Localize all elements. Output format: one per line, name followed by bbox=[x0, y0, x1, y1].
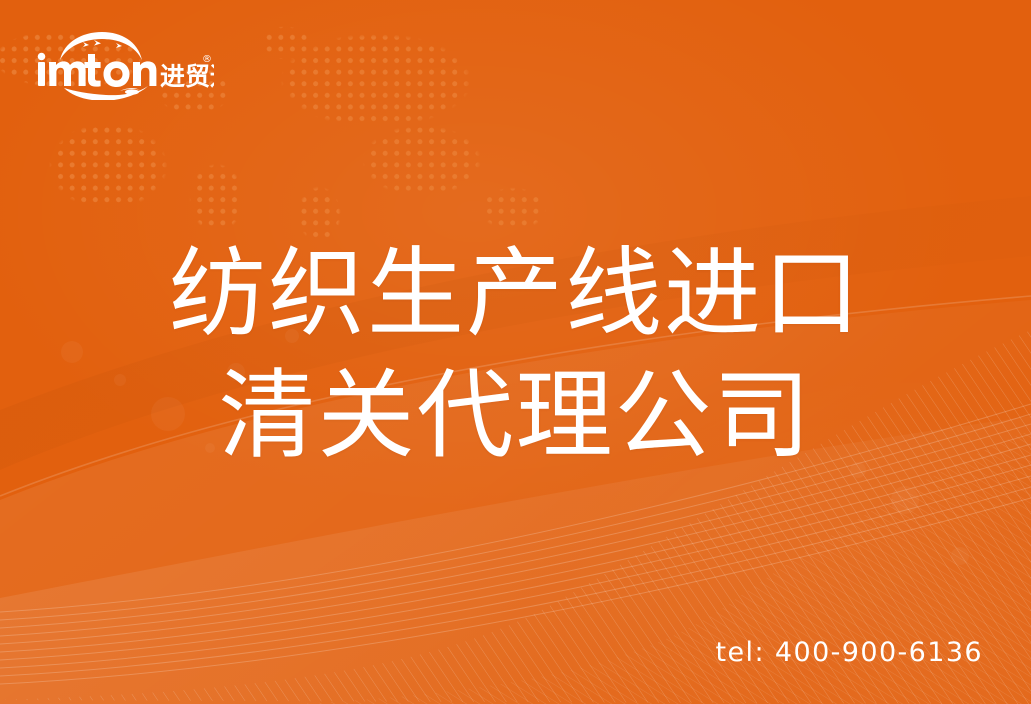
globe-arc-icon bbox=[60, 32, 142, 60]
logo-wordmark-latin bbox=[38, 53, 157, 87]
logo-wordmark-chinese: 进贸通 ® bbox=[160, 54, 214, 91]
svg-text:进贸通: 进贸通 bbox=[160, 62, 214, 91]
contact-phone[interactable]: tel: 400-900-6136 bbox=[716, 637, 983, 668]
trademark-symbol: ® bbox=[202, 54, 212, 65]
swoosh-icon bbox=[64, 86, 148, 100]
headline-line-1: 纺织生产线进口 bbox=[0, 233, 1031, 355]
headline: 纺织生产线进口 清关代理公司 bbox=[0, 233, 1031, 477]
promo-banner: 进贸通 ® 纺织生产线进口 清关代理公司 tel: 400-900-6136 bbox=[0, 0, 1031, 704]
headline-line-2: 清关代理公司 bbox=[0, 355, 1031, 477]
imton-logo[interactable]: 进贸通 ® bbox=[36, 30, 214, 100]
